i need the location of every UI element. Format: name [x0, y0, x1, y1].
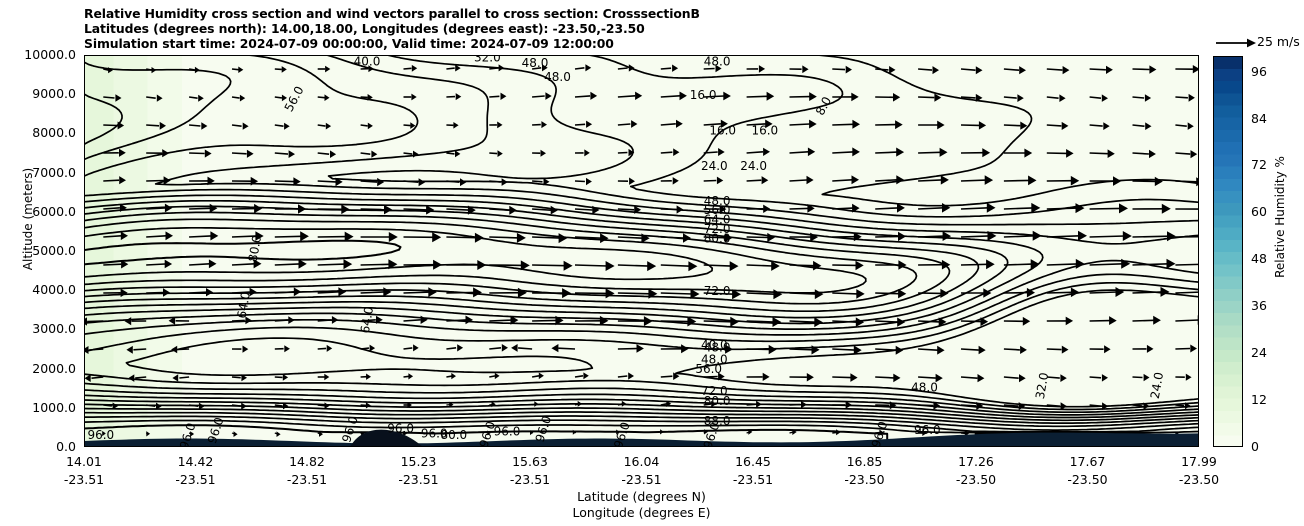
contour-label: 16.0 — [751, 123, 778, 137]
contour-label: 16.0 — [709, 123, 736, 137]
colorbar-tick-label-24: 24 — [1251, 345, 1267, 360]
x-tick-label-lat-16.04: 16.04 — [592, 454, 692, 469]
colorbar-swatch — [1213, 203, 1243, 216]
colorbar-tick-label-84: 84 — [1251, 111, 1267, 126]
colorbar-swatch — [1213, 117, 1243, 130]
colorbar-swatch — [1213, 325, 1243, 338]
contour-label: 32.0 — [474, 55, 501, 64]
colorbar-swatch — [1213, 129, 1243, 142]
x-axis-label-latitude: Latitude (degrees N) — [522, 489, 762, 504]
colorbar-swatch — [1213, 264, 1243, 277]
colorbar-swatch — [1213, 227, 1243, 240]
contour-label: 48.0 — [522, 56, 549, 70]
title-line-3: Simulation start time: 2024-07-09 00:00:… — [84, 36, 700, 51]
colorbar-swatch — [1213, 252, 1243, 265]
contour-label: 48.0 — [911, 380, 938, 394]
colorbar-swatch — [1213, 142, 1243, 155]
colorbar-swatch — [1213, 276, 1243, 289]
x-tick-label-lat-16.45: 16.45 — [703, 454, 803, 469]
contour-label: 80.0 — [704, 232, 731, 246]
y-tick-label-7000.0: 7000.0 — [0, 165, 76, 180]
figure-title: Relative Humidity cross section and wind… — [84, 6, 700, 52]
title-line-2: Latitudes (degrees north): 14.00,18.00, … — [84, 21, 700, 36]
colorbar-swatch — [1213, 154, 1243, 167]
x-tick-label-lon-10: -23.50 — [1149, 472, 1249, 487]
colorbar-swatch — [1213, 80, 1243, 93]
x-tick-label-lon-0: -23.51 — [34, 472, 134, 487]
x-tick-label-lat-15.63: 15.63 — [480, 454, 580, 469]
y-tick-label-9000.0: 9000.0 — [0, 86, 76, 101]
colorbar-tick-label-12: 12 — [1251, 392, 1267, 407]
colorbar-swatch — [1213, 93, 1243, 106]
colorbar-swatch — [1213, 349, 1243, 362]
y-tick-label-8000.0: 8000.0 — [0, 125, 76, 140]
x-tick-label-lat-14.01: 14.01 — [34, 454, 134, 469]
x-tick-label-lat-17.67: 17.67 — [1038, 454, 1138, 469]
colorbar-swatch — [1213, 361, 1243, 374]
contour-label: 80.0 — [704, 394, 731, 408]
x-tick-label-lat-17.99: 17.99 — [1149, 454, 1249, 469]
colorbar-swatch — [1213, 435, 1243, 447]
contour-label: 96.0 — [914, 423, 941, 437]
colorbar-swatch — [1213, 56, 1243, 69]
x-tick-label-lon-3: -23.51 — [369, 472, 469, 487]
y-tick-label-2000.0: 2000.0 — [0, 361, 76, 376]
x-tick-label-lon-5: -23.51 — [592, 472, 692, 487]
colorbar-swatch — [1213, 374, 1243, 387]
colorbar-tick-label-0: 0 — [1251, 439, 1259, 454]
contour-label: 96.0 — [387, 422, 414, 436]
contour-label: 72.0 — [704, 284, 731, 298]
contour-label: 80.0 — [440, 428, 467, 442]
x-tick-label-lat-16.85: 16.85 — [815, 454, 915, 469]
colorbar-tick-label-96: 96 — [1251, 64, 1267, 79]
contour-label: 48.0 — [544, 70, 571, 84]
x-tick-label-lon-8: -23.50 — [926, 472, 1026, 487]
contour-label: 40.0 — [354, 55, 381, 69]
colorbar-swatch — [1213, 288, 1243, 301]
title-line-1: Relative Humidity cross section and wind… — [84, 6, 700, 21]
colorbar-swatch — [1213, 68, 1243, 81]
y-tick-label-4000.0: 4000.0 — [0, 282, 76, 297]
y-tick-label-5000.0: 5000.0 — [0, 243, 76, 258]
colorbar-swatch — [1213, 178, 1243, 191]
x-tick-label-lon-2: -23.51 — [257, 472, 357, 487]
contour-label: 24.0 — [701, 159, 728, 173]
colorbar-swatch — [1213, 166, 1243, 179]
colorbar-swatch — [1213, 215, 1243, 228]
x-tick-label-lon-1: -23.51 — [146, 472, 246, 487]
x-tick-label-lon-4: -23.51 — [480, 472, 580, 487]
colorbar-swatch — [1213, 410, 1243, 423]
colorbar-label: Relative Humidity % — [1273, 127, 1287, 307]
contour-label: 24.0 — [740, 159, 767, 173]
y-tick-label-6000.0: 6000.0 — [0, 204, 76, 219]
quiver-key-arrow — [1216, 36, 1256, 50]
y-tick-label-0.0: 0.0 — [0, 439, 76, 454]
colorbar — [1213, 56, 1243, 447]
x-tick-label-lon-9: -23.50 — [1038, 472, 1138, 487]
colorbar-swatch — [1213, 398, 1243, 411]
colorbar-tick-label-60: 60 — [1251, 204, 1267, 219]
figure-root: Relative Humidity cross section and wind… — [0, 0, 1304, 526]
colorbar-swatch — [1213, 386, 1243, 399]
colorbar-tick-label-72: 72 — [1251, 157, 1267, 172]
x-axis-label-longitude: Longitude (degrees E) — [522, 505, 762, 520]
quiver-key-label: 25 m/s — [1257, 34, 1300, 49]
x-tick-label-lon-6: -23.51 — [703, 472, 803, 487]
x-tick-label-lat-14.82: 14.82 — [257, 454, 357, 469]
colorbar-swatch — [1213, 300, 1243, 313]
x-tick-label-lon-7: -23.50 — [815, 472, 915, 487]
colorbar-swatch — [1213, 313, 1243, 326]
y-tick-label-1000.0: 1000.0 — [0, 400, 76, 415]
colorbar-tick-label-48: 48 — [1251, 251, 1267, 266]
contour-label: 96.0 — [87, 428, 114, 442]
y-tick-label-3000.0: 3000.0 — [0, 321, 76, 336]
x-tick-label-lat-14.42: 14.42 — [146, 454, 246, 469]
contour-label: 16.0 — [690, 88, 717, 102]
contour-label: 96.0 — [494, 424, 521, 438]
colorbar-swatch — [1213, 190, 1243, 203]
contour-label: 48.0 — [704, 55, 731, 68]
cross-section-plot: 40.032.048.048.048.056.016.08.016.016.02… — [84, 55, 1199, 447]
colorbar-swatch — [1213, 337, 1243, 350]
colorbar-swatch — [1213, 239, 1243, 252]
contour-label: 56.0 — [695, 362, 722, 376]
x-tick-label-lat-15.23: 15.23 — [369, 454, 469, 469]
y-tick-label-10000.0: 10000.0 — [0, 47, 76, 62]
colorbar-swatch — [1213, 423, 1243, 436]
colorbar-tick-label-36: 36 — [1251, 298, 1267, 313]
colorbar-swatch — [1213, 105, 1243, 118]
x-tick-label-lat-17.26: 17.26 — [926, 454, 1026, 469]
